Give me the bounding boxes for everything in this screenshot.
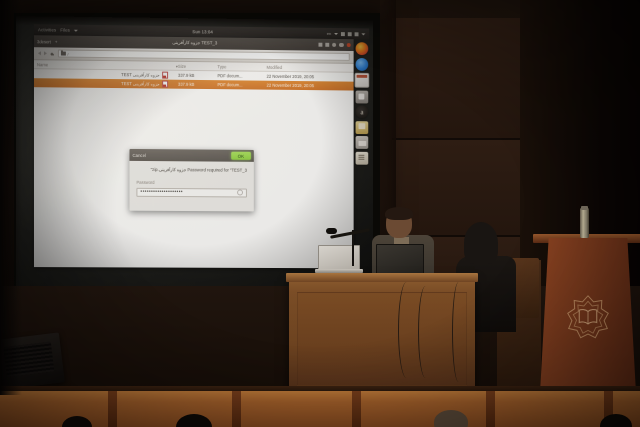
menu-icon[interactable] [325,43,329,47]
password-dialog: Cancel OK Password required for "TEST_3 … [129,149,253,211]
window-title: TEST_3 جزوه کارآفرینی [172,40,217,47]
file-list-area: Name ▾ Size Type Modified جزوه کارآفرینی… [34,60,354,268]
rail-slat [352,391,361,427]
file-name-text: جزوه کارآفرینی TEST [121,72,159,77]
amazon-icon[interactable]: a [356,105,369,118]
file-type-cell: PDF docum... [217,73,266,78]
rail-slat [232,391,241,427]
pdf-file-icon [162,71,168,79]
app-menu-button[interactable]: Files [60,28,70,33]
laptop [318,245,362,273]
battery-icon[interactable] [355,32,359,36]
location-value: / [67,51,68,56]
trash-icon[interactable] [356,136,369,149]
audience-head [434,410,468,427]
presenter-hair [385,207,413,220]
cable-3 [452,282,465,382]
minimize-button[interactable] [332,43,336,47]
files-icon[interactable] [355,73,370,88]
location-bar[interactable]: / [58,49,350,61]
cable-2 [418,286,433,378]
help-icon[interactable] [356,121,369,134]
bottle-cap [581,206,588,210]
rail-slat [108,391,117,427]
cancel-button[interactable]: Cancel [132,152,146,157]
password-required-message: Password required for "TEST_3 جزوه کارآف… [136,167,247,174]
rail-slat [486,391,495,427]
ubuntu-desktop: Activities Files Sun 13:04 en [34,24,369,275]
firefox-icon[interactable] [356,42,369,55]
clock[interactable]: Sun 13:04 [192,29,213,34]
volume-icon[interactable] [348,32,352,36]
ubuntu-dock: a [355,42,370,164]
file-size-cell: 337.9 kB [178,82,217,87]
network-icon[interactable] [341,32,345,36]
file-type-cell: PDF docum... [217,82,266,87]
pdf-file-icon [162,80,168,88]
power-chevron-icon[interactable] [361,33,365,35]
column-header-type[interactable]: Type [217,64,266,70]
password-label: Password [136,180,247,186]
back-button[interactable] [38,51,41,55]
file-name-text: جزوه کارآفرینی TEST [121,81,159,86]
file-modified-cell: 22 November 2019, 20:05 [267,83,351,89]
text-editor-icon[interactable] [356,151,369,164]
password-dialog-body: Password required for "TEST_3 جزوه کارآف… [129,161,253,197]
audience-rail [0,391,640,427]
microphone-stand [352,230,354,266]
podium [540,238,636,393]
new-tab-button[interactable]: + [55,39,57,44]
password-dialog-header: Cancel OK [129,149,253,162]
file-manager-window: 3desert + TEST_3 جزوه کارآفرینی [34,35,354,268]
input-source-icon[interactable]: en [327,31,331,35]
file-name-cell: جزوه کارآفرینی TEST [37,70,168,79]
water-bottle [580,208,589,238]
column-header-size[interactable]: Size [178,63,217,68]
file-size-cell: 337.9 kB [178,73,217,78]
presentation-table [289,278,475,396]
monitor [376,244,424,276]
table-top [286,273,478,282]
activities-button[interactable]: Activities [38,27,56,32]
thunderbird-icon[interactable] [356,57,369,70]
woman-hijab [464,222,498,264]
open-book-star-emblem [565,294,611,340]
forward-button[interactable] [44,51,47,55]
show-password-icon[interactable] [237,189,243,195]
password-input[interactable]: •••••••••••••••••••• [136,187,247,197]
microphone-head [326,228,337,234]
column-header-name[interactable]: Name [37,62,168,68]
chevron-down-icon[interactable] [74,29,78,31]
table-front-panel [297,292,467,386]
status-indicators[interactable]: en [327,31,365,35]
ok-button[interactable]: OK [231,152,251,160]
maximize-button[interactable] [339,43,343,47]
file-name-cell: جزوه کارآفرینی TEST [37,79,168,88]
left-shadow-overlay [0,0,22,395]
lecture-hall-scene: Activities Files Sun 13:04 en [0,0,640,427]
software-icon[interactable] [356,90,369,103]
cable-1 [398,282,415,378]
column-header-modified[interactable]: Modified [267,64,351,70]
input-chevron-icon[interactable] [334,33,338,35]
password-value: •••••••••••••••••••• [140,189,237,195]
home-icon[interactable] [50,51,55,56]
file-modified-cell: 22 November 2019, 20:05 [267,74,351,80]
search-icon[interactable] [318,43,322,47]
close-button[interactable] [346,43,350,47]
tab-3desert[interactable]: 3desert [37,39,51,44]
folder-icon [61,52,65,56]
sort-chevron-icon[interactable]: ▾ [168,63,178,68]
